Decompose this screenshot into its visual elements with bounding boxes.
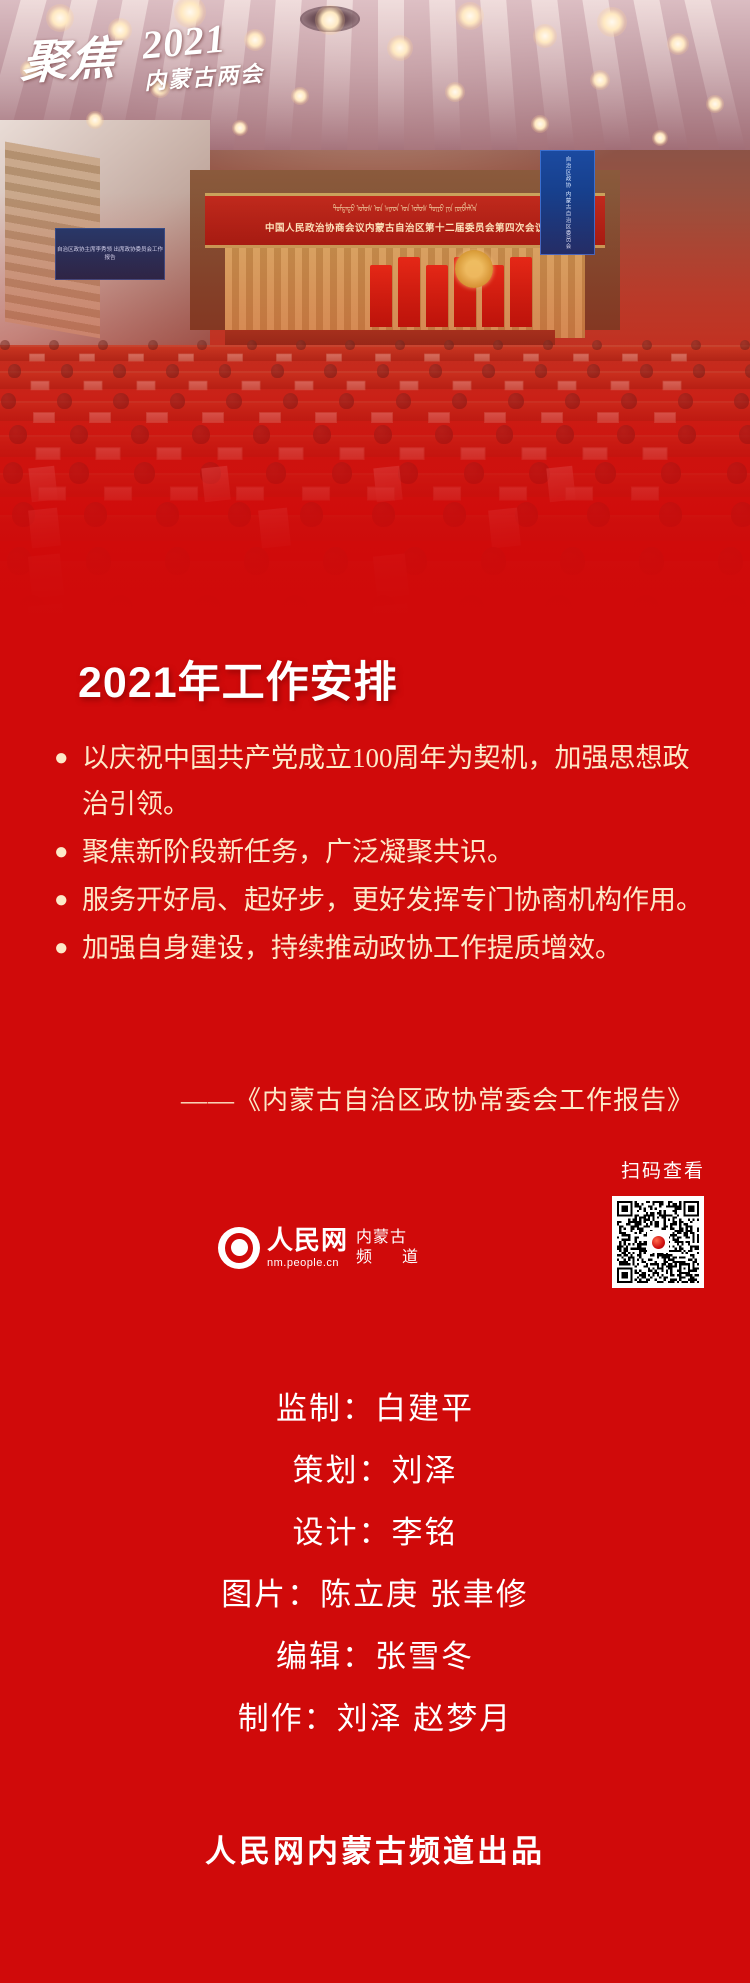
- content-layer: 2021年工作安排 ●以庆祝中国共产党成立100周年为契机，加强思想政治引领。●…: [0, 0, 750, 1983]
- source-citation: ——《内蒙古自治区政协常委会工作报告》: [0, 1080, 750, 1117]
- produced-by: 人民网内蒙古频道出品: [0, 1826, 750, 1871]
- bullet-dot-icon: ●: [54, 877, 69, 923]
- credit-line: 图片：陈立庚 张聿修: [0, 1564, 750, 1626]
- work-plan-item: ●服务开好局、起好步，更好发挥专门协商机构作用。: [46, 877, 706, 923]
- work-plan-item-text: 聚焦新阶段新任务，广泛凝聚共识。: [82, 837, 514, 867]
- page-title: 2021年工作安排: [78, 648, 398, 710]
- credits-block: 监制：白建平策划：刘泽设计：李铭图片：陈立庚 张聿修编辑：张雪冬制作：刘泽 赵梦…: [0, 1378, 750, 1750]
- people-cn-channel-line2: 频 道: [356, 1248, 425, 1268]
- work-plan-item: ●聚焦新阶段新任务，广泛凝聚共识。: [46, 829, 706, 875]
- poster-root: ᠳᠤᠮᠳᠠᠳᠤ ᠤᠯᠤᠰ ᠤᠨ ᠠᠷᠠᠳ ᠤᠨ ᠤᠯᠤᠰ ᠲᠥᠷᠥ ᠶᠢᠨ ᠵᠥ…: [0, 0, 750, 1983]
- work-plan-item: ●以庆祝中国共产党成立100周年为契机，加强思想政治引领。: [46, 735, 706, 827]
- work-plan-item-text: 加强自身建设，持续推动政协工作提质增效。: [82, 933, 622, 963]
- focus-logo-subtitle: 内蒙古两会: [143, 56, 265, 96]
- people-cn-name: 人民网: [267, 1228, 348, 1254]
- credit-line: 制作：刘泽 赵梦月: [0, 1688, 750, 1750]
- qr-code[interactable]: [612, 1196, 704, 1288]
- work-plan-item-text: 以庆祝中国共产党成立100周年为契机，加强思想政治引领。: [82, 743, 690, 819]
- credit-line: 监制：白建平: [0, 1378, 750, 1440]
- work-plan-item-text: 服务开好局、起好步，更好发挥专门协商机构作用。: [82, 885, 703, 915]
- bullet-dot-icon: ●: [54, 829, 69, 875]
- work-plan-list: ●以庆祝中国共产党成立100周年为契机，加强思想政治引领。●聚焦新阶段新任务，广…: [46, 735, 706, 973]
- bullet-dot-icon: ●: [54, 735, 69, 781]
- work-plan-item: ●加强自身建设，持续推动政协工作提质增效。: [46, 925, 706, 971]
- people-cn-globe-icon: [218, 1227, 260, 1269]
- scan-qr-label: 扫码查看: [621, 1156, 705, 1183]
- credit-line: 设计：李铭: [0, 1502, 750, 1564]
- focus-logo-main: 聚焦: [19, 22, 121, 93]
- credit-line: 编辑：张雪冬: [0, 1626, 750, 1688]
- people-cn-url: nm.people.cn: [267, 1257, 348, 1269]
- focus-2021-logo: 聚焦 2021 内蒙古两会: [22, 16, 312, 98]
- qr-center-logo-icon: [647, 1231, 669, 1253]
- people-cn-logo[interactable]: 人民网 nm.people.cn 内蒙古 频 道: [218, 1222, 448, 1274]
- credit-line: 策划：刘泽: [0, 1440, 750, 1502]
- bullet-dot-icon: ●: [54, 925, 69, 971]
- people-cn-channel-line1: 内蒙古: [356, 1228, 425, 1248]
